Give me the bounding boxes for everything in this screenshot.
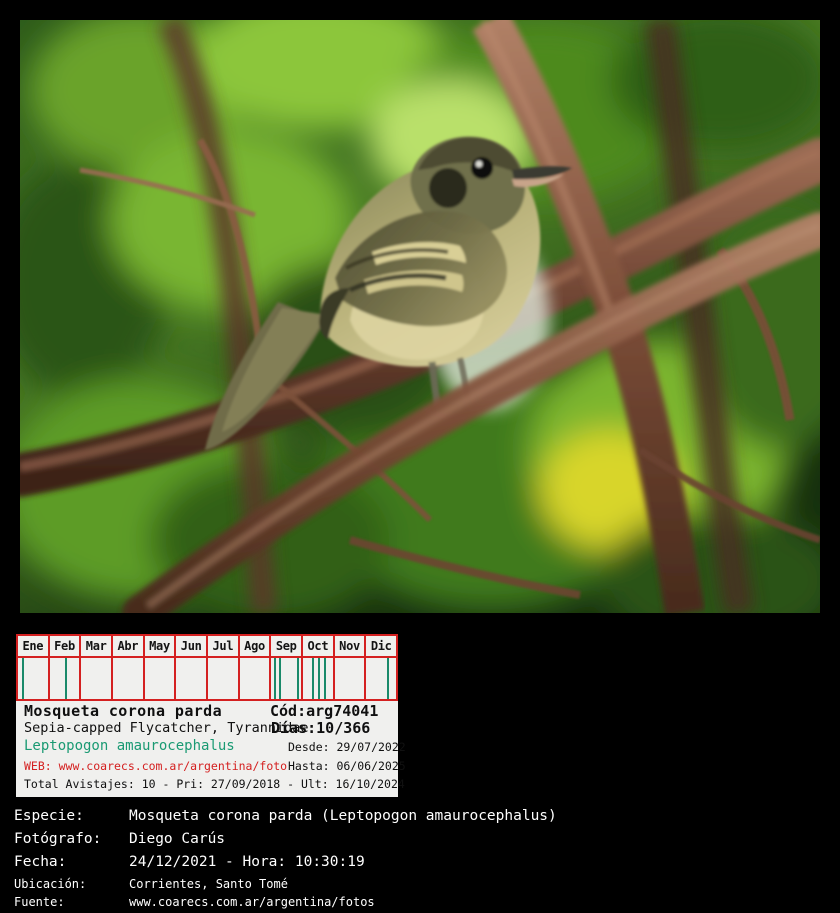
- sighting-tick: [318, 658, 320, 699]
- caption-label-fuente: Fuente:: [14, 895, 129, 909]
- month-label-oct: Oct: [303, 636, 335, 656]
- tick-column-jul: [208, 658, 240, 699]
- tick-column-mar: [81, 658, 113, 699]
- sighting-tick: [279, 658, 281, 699]
- record-english-name: Sepia-capped Flycatcher, Tyrannidae: [24, 720, 308, 736]
- caption-label-especie: Especie:: [14, 808, 129, 824]
- caption-value-ubicacion: Corrientes, Santo Tomé: [129, 877, 288, 891]
- sighting-tick: [274, 658, 276, 699]
- calendar-tick-area: [18, 658, 396, 699]
- caption-block: Especie: Mosqueta corona parda (Leptopog…: [14, 808, 826, 913]
- tick-column-sep: [271, 658, 303, 699]
- caption-row-ubicacion: Ubicación: Corrientes, Santo Tomé: [14, 877, 826, 895]
- sighting-tick: [387, 658, 389, 699]
- tick-column-oct: [303, 658, 335, 699]
- month-label-sep: Sep: [271, 636, 303, 656]
- tick-column-may: [145, 658, 177, 699]
- sighting-tick: [312, 658, 314, 699]
- month-label-feb: Feb: [50, 636, 82, 656]
- month-label-mar: Mar: [81, 636, 113, 656]
- caption-label-ubicacion: Ubicación:: [14, 877, 129, 891]
- record-card-text: Mosqueta corona parda Cód:arg74041 Sepia…: [16, 701, 398, 797]
- caption-row-fuente: Fuente: www.coarecs.com.ar/argentina/fot…: [14, 895, 826, 913]
- caption-row-especie: Especie: Mosqueta corona parda (Leptopog…: [14, 808, 826, 831]
- sighting-tick: [324, 658, 326, 699]
- tick-column-feb: [50, 658, 82, 699]
- record-code: Cód:arg74041: [270, 702, 378, 720]
- bird-photo: [20, 20, 820, 613]
- sighting-tick: [297, 658, 299, 699]
- sighting-tick: [22, 658, 24, 699]
- tick-column-ago: [240, 658, 272, 699]
- caption-value-especie: Mosqueta corona parda (Leptopogon amauro…: [129, 808, 557, 824]
- tick-column-ene: [18, 658, 50, 699]
- bird-photo-image: [20, 20, 820, 613]
- month-label-nov: Nov: [335, 636, 367, 656]
- record-scientific-name: Leptopogon amaurocephalus: [24, 738, 235, 754]
- sighting-tick: [65, 658, 67, 699]
- record-date-to: Hasta: 06/06/2025: [288, 759, 406, 773]
- tick-column-jun: [176, 658, 208, 699]
- month-label-abr: Abr: [113, 636, 145, 656]
- tick-column-dic: [366, 658, 396, 699]
- calendar-month-header: Ene Feb Mar Abr May Jun Jul Ago Sep Oct …: [18, 636, 396, 658]
- tick-column-nov: [335, 658, 367, 699]
- caption-row-fecha: Fecha: 24/12/2021 - Hora: 10:30:19: [14, 854, 826, 877]
- caption-label-fotografo: Fotógrafo:: [14, 831, 129, 847]
- month-label-ene: Ene: [18, 636, 50, 656]
- caption-value-fuente[interactable]: www.coarecs.com.ar/argentina/fotos: [129, 895, 375, 909]
- species-record-card: Ene Feb Mar Abr May Jun Jul Ago Sep Oct …: [16, 634, 398, 797]
- caption-row-fotografo: Fotógrafo: Diego Carús: [14, 831, 826, 854]
- caption-label-fecha: Fecha:: [14, 854, 129, 870]
- month-label-ago: Ago: [240, 636, 272, 656]
- month-label-jun: Jun: [176, 636, 208, 656]
- monthly-sightings-calendar: Ene Feb Mar Abr May Jun Jul Ago Sep Oct …: [16, 634, 398, 701]
- month-label-jul: Jul: [208, 636, 240, 656]
- caption-value-fecha: 24/12/2021 - Hora: 10:30:19: [129, 854, 365, 870]
- record-date-from: Desde: 29/07/2022: [288, 740, 406, 754]
- record-days-counter: Días:10/366: [271, 719, 370, 737]
- record-web-url[interactable]: WEB: www.coarecs.com.ar/argentina/foto: [24, 759, 287, 773]
- month-label-may: May: [145, 636, 177, 656]
- caption-value-fotografo: Diego Carús: [129, 831, 225, 847]
- record-common-name: Mosqueta corona parda: [24, 702, 222, 720]
- record-totals: Total Avistajes: 10 - Pri: 27/09/2018 - …: [24, 777, 405, 791]
- month-label-dic: Dic: [366, 636, 396, 656]
- tick-column-abr: [113, 658, 145, 699]
